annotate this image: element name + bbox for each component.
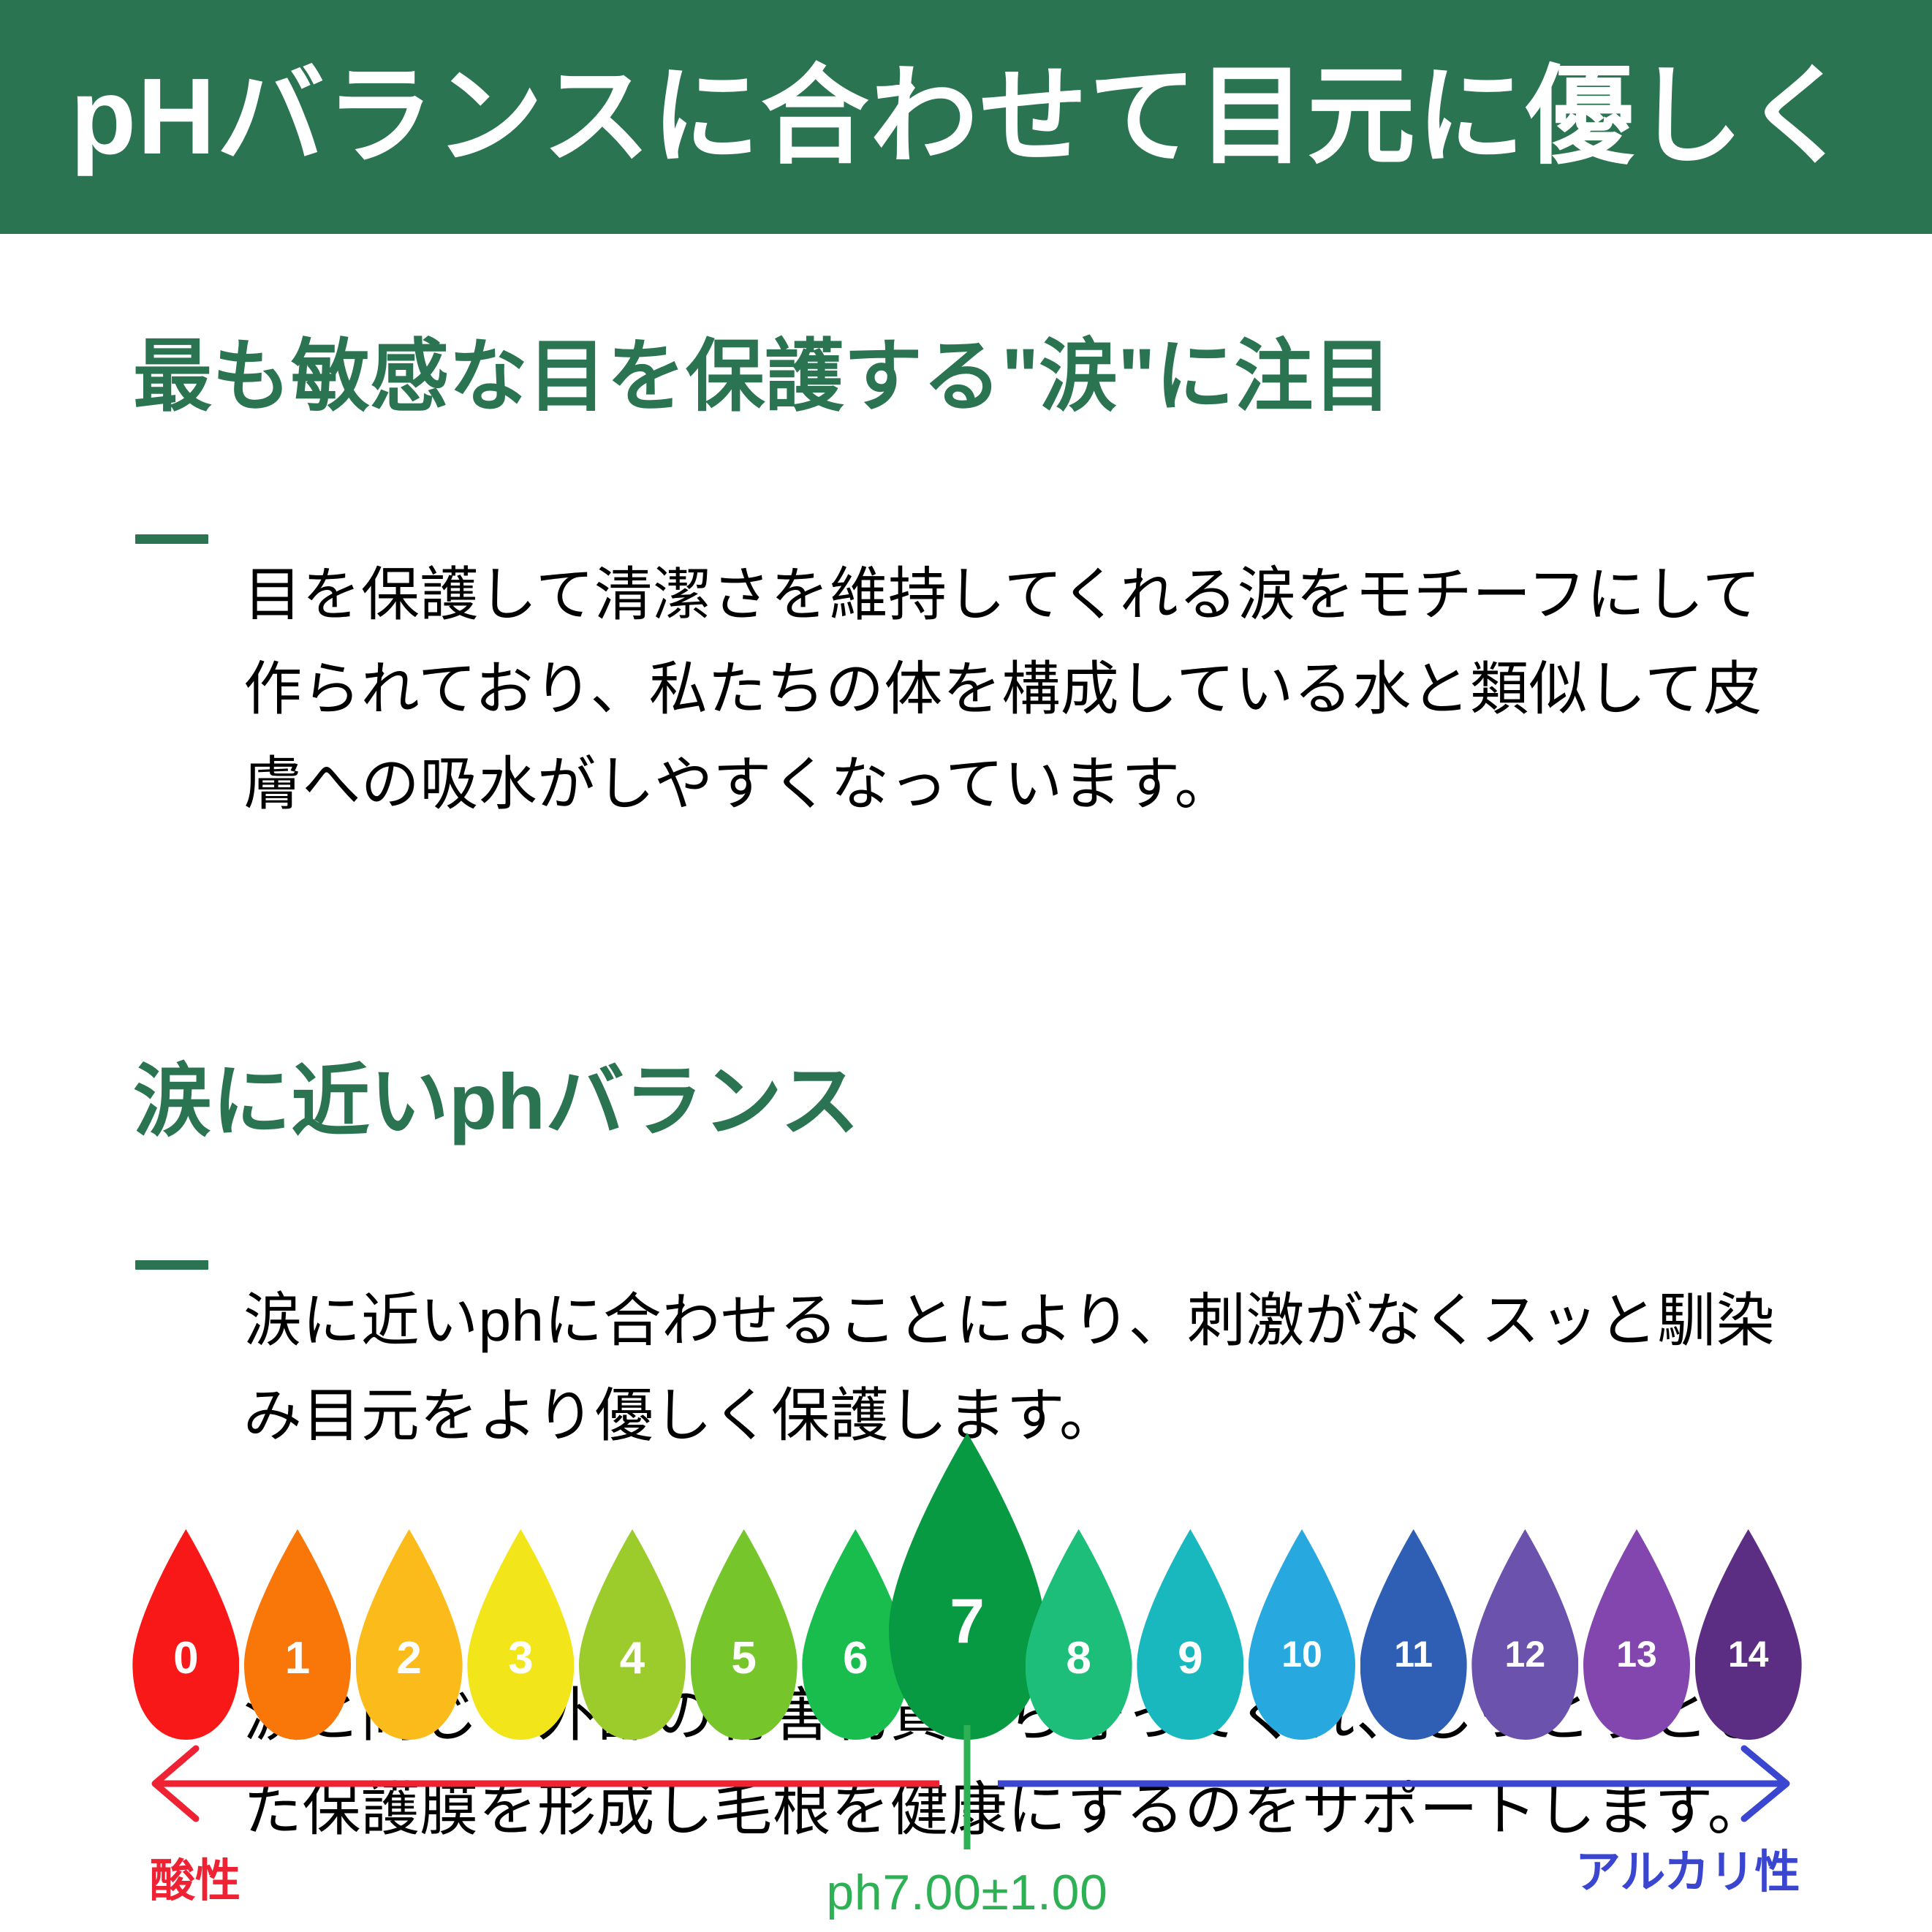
alkali-arrow-icon	[998, 1749, 1787, 1819]
axis-label-acidic: 酸性	[150, 1844, 240, 1909]
header-banner: pHバランスに合わせて目元に優しく	[0, 0, 1932, 234]
acid-arrow-icon	[155, 1749, 939, 1819]
bullet-dash-icon	[135, 1260, 208, 1270]
bullet-dash-icon	[135, 534, 208, 544]
bullet-item: 目を保護して清潔さを維持してくれる涙をモチーフにして作られており、私たちの体を構…	[0, 489, 1932, 890]
ph-scale-chart: 01234567891011121314 酸性 アルカリ性 ph7.00±1.0…	[0, 1477, 1932, 1932]
section-heading-ph-balance: 涙に近いphバランス	[0, 890, 1932, 1145]
ph-marker-label: ph7.00±1.00	[826, 1864, 1107, 1921]
bullet-text: 目を保護して清潔さを維持してくれる涙をモチーフにして作られており、私たちの体を構…	[243, 548, 1800, 832]
axis-label-alkaline: アルカリ性	[1575, 1835, 1800, 1901]
page-root: pHバランスに合わせて目元に優しく 最も敏感な目を保護する"涙"に注目 目を保護…	[0, 0, 1932, 1932]
section-heading-tears: 最も敏感な目を保護する"涙"に注目	[0, 234, 1932, 420]
page-title: pHバランスに合わせて目元に優しく	[70, 63, 1854, 171]
